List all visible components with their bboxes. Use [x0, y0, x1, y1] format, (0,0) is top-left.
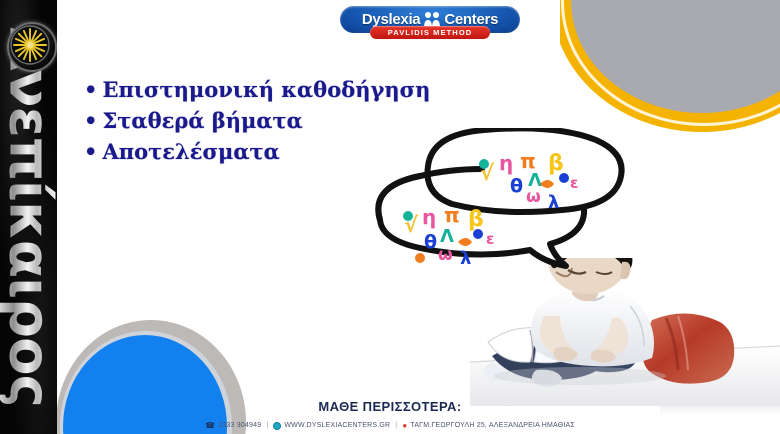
svg-text:θ: θ	[424, 231, 437, 253]
contact-separator-1: |	[266, 422, 268, 429]
svg-text:π: π	[444, 203, 460, 227]
bullet-label: Επιστημονική καθοδήγηση	[102, 77, 430, 102]
logo-tagline-pill: PAVLIDIS METHOD	[370, 26, 490, 39]
svg-text:λ: λ	[548, 192, 559, 213]
slide-stage: √ η π β θ Λ ω λ ε √ η π	[0, 0, 780, 434]
svg-text:β: β	[548, 151, 564, 176]
bullet-label: Αποτελέσματα	[102, 139, 279, 164]
address-text: ΤΑΓΜ.ΓΕΩΡΓΟΥΛΗ 25, ΑΛΕΞΑΝΔΡΕΙΑ ΗΜΑΘΙΑΣ	[410, 422, 575, 429]
globe-icon	[273, 422, 281, 430]
svg-text:ε: ε	[486, 230, 494, 248]
svg-text:β: β	[468, 207, 484, 232]
bullet-marker: •	[84, 77, 97, 102]
bullet-label: Σταθερά βήματα	[102, 108, 302, 133]
phone-icon: ☎	[205, 422, 215, 430]
bullet-item-2: •Σταθερά βήματα	[84, 105, 430, 136]
arc-gray-fill	[570, 0, 780, 122]
contact-address[interactable]: ● ΤΑΓΜ.ΓΕΩΡΓΟΥΛΗ 25, ΑΛΕΞΑΝΔΡΕΙΑ ΗΜΑΘΙΑΣ	[402, 422, 575, 430]
svg-text:η: η	[422, 205, 436, 229]
contact-bar: ☎ 2333 304949 | WWW.DYSLEXIACENTERS.GR |…	[0, 417, 780, 434]
map-pin-icon: ●	[402, 422, 407, 430]
phone-number: 2333 304949	[218, 422, 261, 429]
bullet-marker: •	[84, 108, 97, 133]
svg-text:ω: ω	[438, 245, 453, 265]
corner-arc-decoration	[560, 0, 780, 132]
bullet-item-3: •Αποτελέσματα	[84, 136, 430, 167]
contact-phone[interactable]: ☎ 2333 304949	[205, 422, 261, 430]
contact-separator-2: |	[395, 422, 397, 429]
learn-more-heading: ΜΑΘΕ ΠΕΡΙΣΣΟΤΕΡΑ:	[0, 399, 780, 414]
channel-watermark-band: Ανεπίκαιρος	[0, 0, 57, 434]
svg-text:η: η	[499, 151, 513, 175]
svg-text:ε: ε	[570, 174, 578, 192]
svg-text:θ: θ	[510, 175, 523, 197]
bullet-marker: •	[84, 139, 97, 164]
vergina-sun-emblem	[7, 22, 57, 72]
logo-tagline-text: PAVLIDIS METHOD	[388, 28, 473, 37]
svg-text:Λ: Λ	[440, 226, 454, 247]
arc-white-highlight	[561, 0, 780, 126]
bullet-item-1: •Επιστημονική καθοδήγηση	[84, 74, 430, 105]
svg-text:ω: ω	[526, 187, 541, 207]
bullet-list: •Επιστημονική καθοδήγηση •Σταθερά βήματα…	[84, 74, 430, 167]
dyslexia-centers-logo[interactable]: Dyslexia Centers PAVLIDIS METHOD	[340, 6, 520, 44]
website-url: WWW.DYSLEXIACENTERS.GR	[284, 422, 390, 429]
arc-yellow-ring	[560, 0, 780, 132]
slide-canvas: √ η π β θ Λ ω λ ε √ η π	[0, 0, 780, 434]
svg-text:λ: λ	[460, 248, 471, 269]
channel-name-vertical: Ανεπίκαιρος	[0, 27, 57, 407]
contact-website[interactable]: WWW.DYSLEXIACENTERS.GR	[273, 422, 390, 430]
